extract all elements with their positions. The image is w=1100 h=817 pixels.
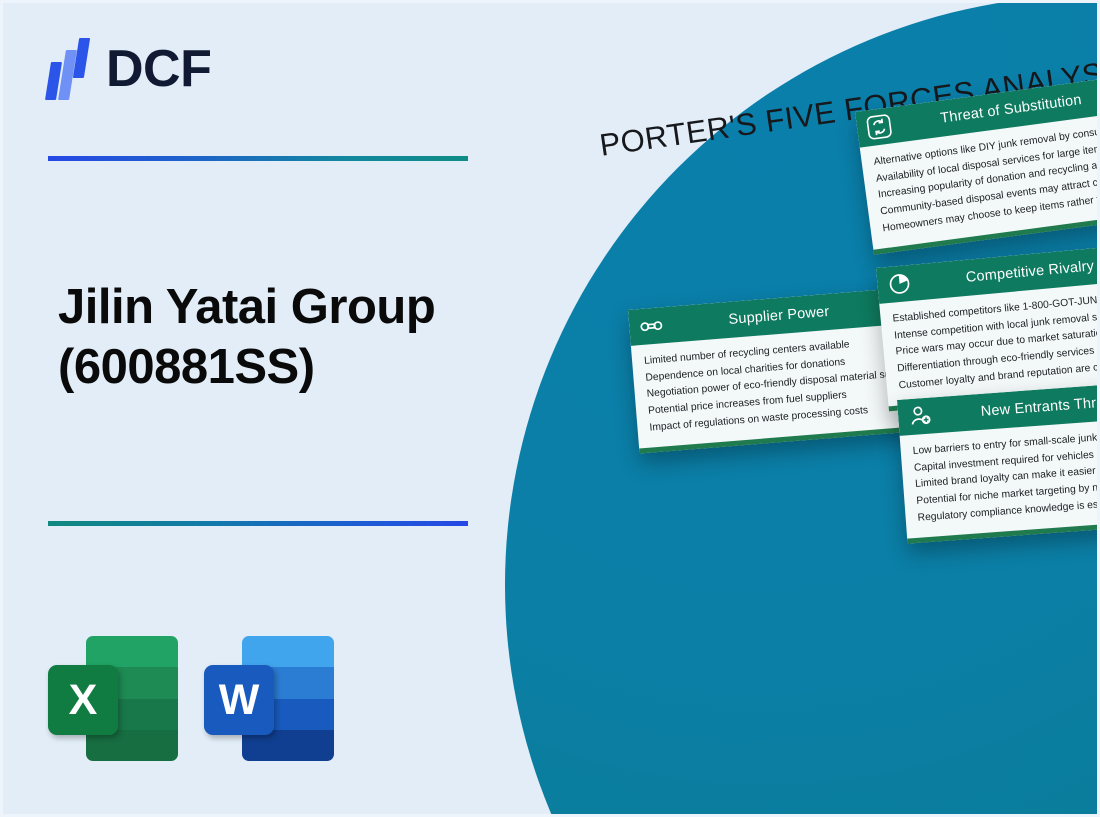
- excel-badge-letter: X: [48, 665, 118, 735]
- card-competitive-rivalry[interactable]: Competitive Rivalry Established competit…: [876, 241, 1100, 412]
- divider-top: [48, 156, 468, 161]
- brand-logo-text: DCF: [106, 43, 211, 95]
- card-new-entrants-threat[interactable]: New Entrants Threat Low barriers to entr…: [897, 379, 1100, 544]
- excel-file-icon[interactable]: X: [48, 632, 178, 765]
- pie-chart-icon: [884, 269, 914, 299]
- word-badge-letter: W: [204, 665, 274, 735]
- divider-bottom: [48, 521, 468, 526]
- bar-chart-logo-icon: [48, 38, 92, 100]
- word-file-icon[interactable]: W: [204, 632, 334, 765]
- add-person-icon: [905, 401, 935, 431]
- sync-refresh-icon: [863, 111, 894, 142]
- brand-logo[interactable]: DCF: [48, 38, 211, 100]
- page-title: Jilin Yatai Group (600881SS): [58, 278, 528, 398]
- file-format-icons: X W: [48, 632, 334, 765]
- poster-canvas: DCF Jilin Yatai Group (600881SS) X W POR…: [0, 0, 1100, 817]
- handshake-link-icon: [636, 311, 666, 341]
